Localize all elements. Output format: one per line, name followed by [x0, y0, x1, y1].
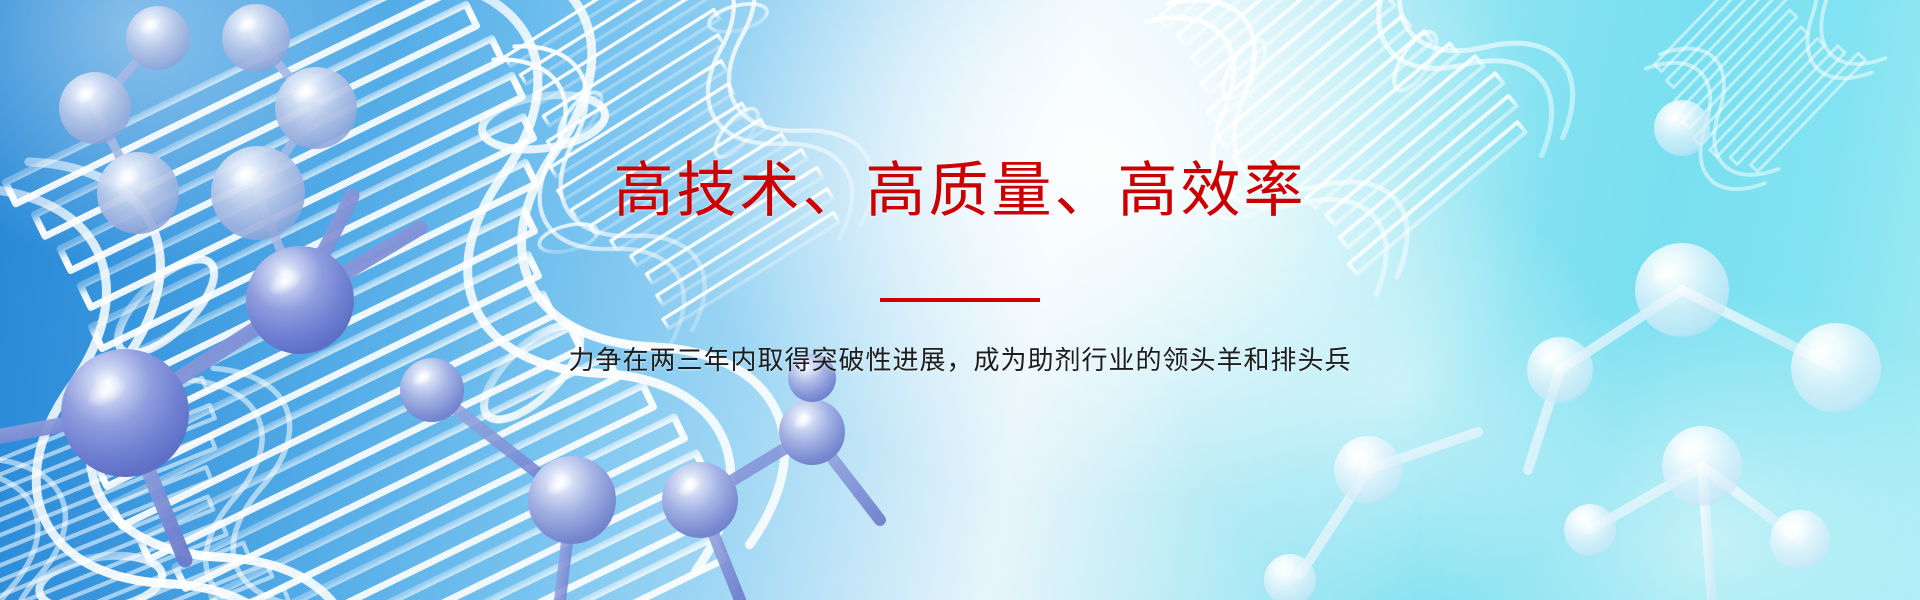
- background-gradient: [0, 0, 1920, 600]
- hero-banner: 高技术、高质量、高效率 力争在两三年内取得突破性进展，成为助剂行业的领头羊和排头…: [0, 0, 1920, 600]
